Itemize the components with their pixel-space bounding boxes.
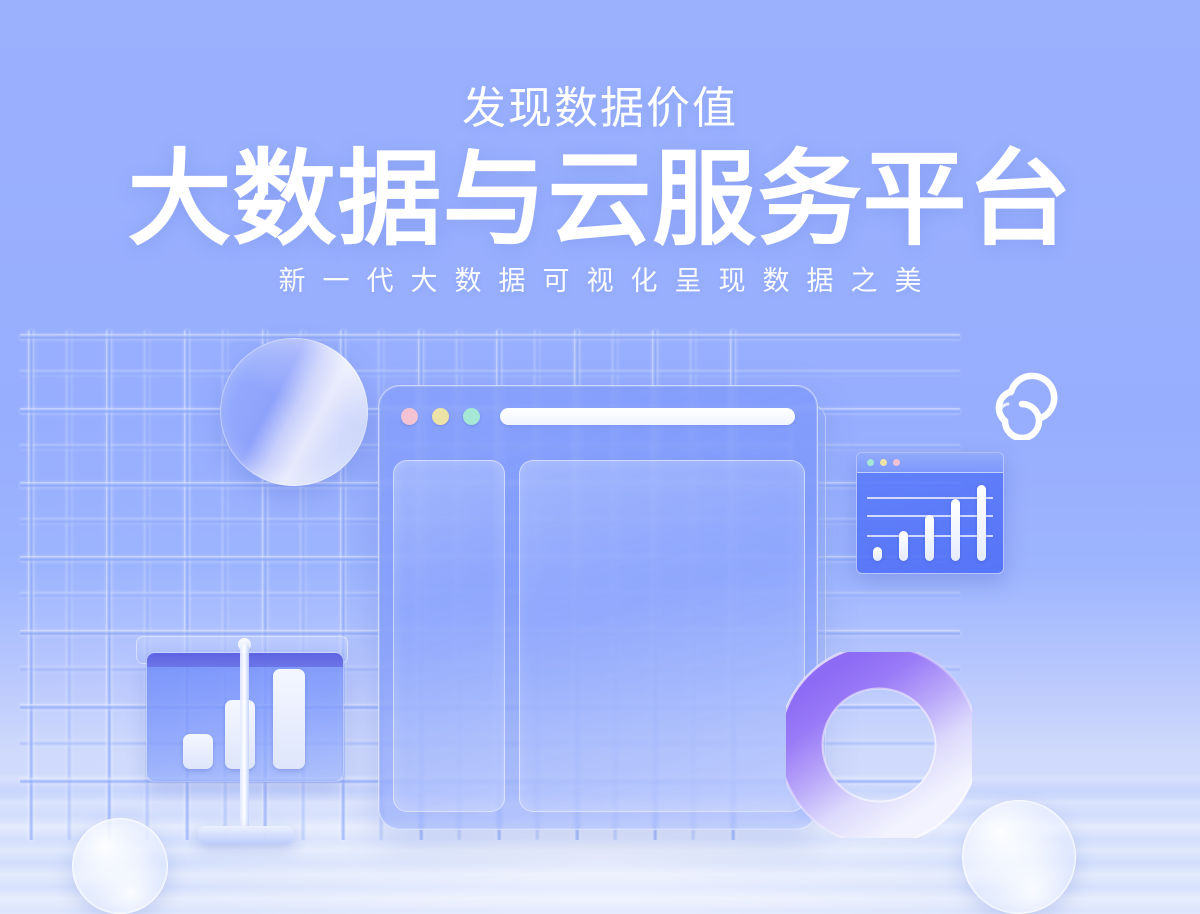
- content-panel: [519, 460, 805, 812]
- glass-sphere-left: [72, 818, 168, 914]
- chart-gridline: [867, 497, 993, 499]
- maximize-dot[interactable]: [867, 459, 874, 466]
- monitor-chart-card: [128, 636, 360, 860]
- address-bar[interactable]: [500, 408, 795, 425]
- grid-column-line: [28, 330, 34, 840]
- sphere-surface: [962, 800, 1076, 914]
- glass-disc: [220, 338, 368, 486]
- close-dot[interactable]: [893, 459, 900, 466]
- mini-chart-window: [856, 452, 1004, 574]
- chart-bar: [925, 515, 934, 561]
- chart-bar: [183, 734, 213, 769]
- maximize-dot[interactable]: [463, 408, 480, 425]
- minimize-dot[interactable]: [432, 408, 449, 425]
- chart-bar: [951, 499, 960, 561]
- monitor-stand-base: [198, 826, 294, 844]
- chart-bar: [899, 531, 908, 561]
- chart-bar: [977, 485, 986, 561]
- hero-eyebrow: 发现数据价值: [0, 84, 1200, 134]
- donut-chart-torus: [786, 652, 972, 838]
- hero-tagline: 新一代大数据可视化呈现数据之美: [0, 265, 1200, 297]
- glass-sphere-right: [962, 800, 1076, 914]
- sidebar-panel: [393, 460, 505, 812]
- page-title: 大数据与云服务平台: [0, 142, 1200, 258]
- hero-text-block: 发现数据价值 大数据与云服务平台 新一代大数据可视化呈现数据之美: [0, 84, 1200, 297]
- mini-chart-titlebar: [857, 453, 1003, 473]
- cloud-icon: [978, 362, 1064, 440]
- grid-column-line: [106, 330, 112, 840]
- sphere-surface: [72, 818, 168, 914]
- chart-bar: [273, 669, 305, 769]
- close-dot[interactable]: [401, 408, 418, 425]
- minimize-dot[interactable]: [880, 459, 887, 466]
- chart-bar: [873, 547, 882, 561]
- monitor-stand-pole: [240, 644, 249, 829]
- grid-row-line: [20, 334, 960, 340]
- browser-titlebar: [379, 386, 817, 446]
- mini-bar-chart: [857, 473, 1003, 573]
- browser-window-mockup: [378, 385, 818, 830]
- hero-banner: 发现数据价值 大数据与云服务平台 新一代大数据可视化呈现数据之美: [0, 0, 1200, 914]
